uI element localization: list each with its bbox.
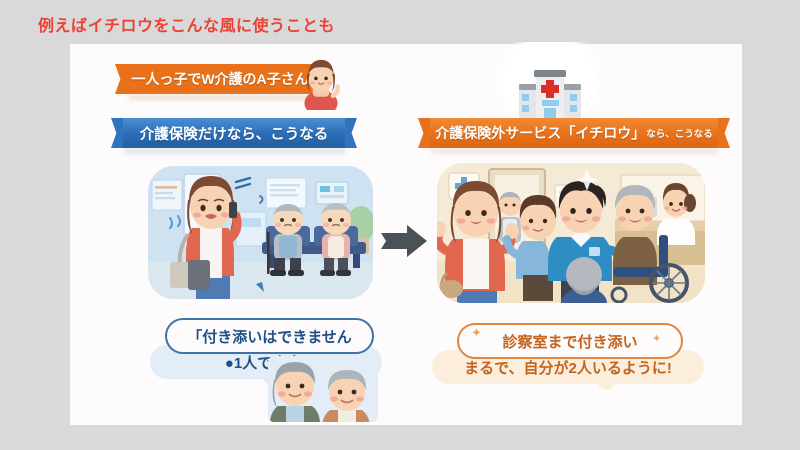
banner-left-case-shadow <box>124 149 346 154</box>
woman-avatar-icon <box>298 54 344 110</box>
banner-right-case-shadow <box>431 149 719 154</box>
banner-right-case: 介護保険外サービス「イチロウ」なら、こうなる <box>429 118 719 148</box>
sparkle-icon-right: ✦ <box>652 332 661 345</box>
waiting-room-alone-illustration <box>148 166 373 299</box>
banner-left-case-label: 介護保険だけなら、こうなる <box>140 123 329 144</box>
banner-persona-label: 一人っ子でW介護のA子さん <box>131 69 308 89</box>
banner-left-case: 介護保険だけなら、こうなる <box>122 118 346 148</box>
banner-right-case-label-small: なら、こうなる <box>646 126 713 140</box>
right-caption-line1: 診察室まで付き添い <box>459 325 681 357</box>
left-caption-bubble-1: 「付き添いはできません <box>165 318 374 354</box>
right-arrow-icon <box>381 224 427 258</box>
sparkle-icon-left: ✦ <box>471 325 482 341</box>
left-caption-line1: 「付き添いはできません <box>167 320 372 352</box>
banner-right-case-label-main: 介護保険外サービス「イチロウ」 <box>435 123 645 143</box>
banner-persona: 一人っ子でW介護のA子さん <box>126 64 314 94</box>
elderly-couple-icon <box>268 356 378 422</box>
caregiver-support-illustration <box>437 163 705 303</box>
right-bubble-tail <box>595 383 617 397</box>
right-caption-bubble-1: 診察室まで付き添い <box>457 323 683 359</box>
hospital-building-icon <box>517 64 583 120</box>
page-title: 例えばイチロウをこんな風に使うことも <box>38 12 335 36</box>
slide-card: 一人っ子でW介護のA子さん 介護保険だけなら、こうなる 介護保険外サービス「イチ… <box>70 44 742 425</box>
banner-persona-shadow <box>128 95 314 100</box>
